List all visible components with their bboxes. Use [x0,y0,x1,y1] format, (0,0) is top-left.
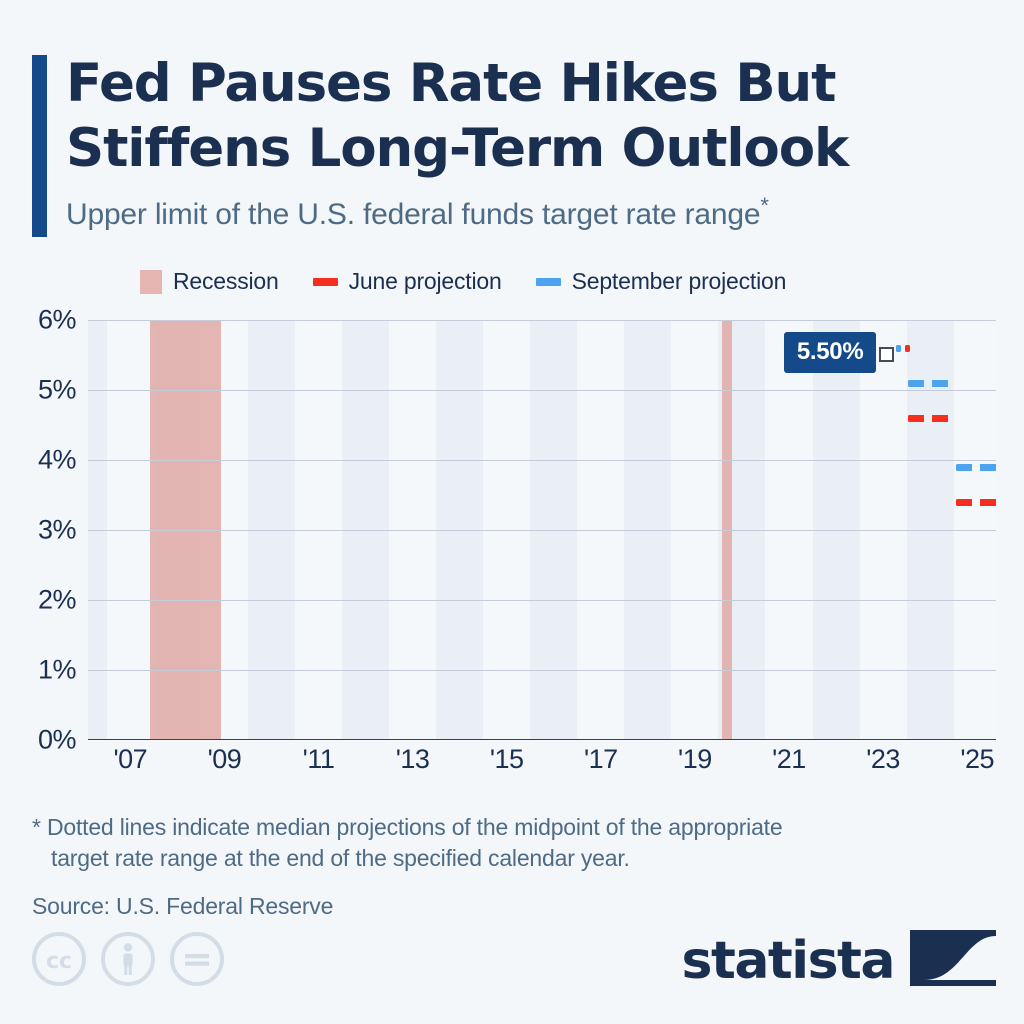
legend-label: September projection [572,268,787,295]
gridline [88,670,996,671]
legend-item-june-projection[interactable]: June projection [313,268,502,295]
cc-attribution-icon[interactable] [99,930,157,993]
projection-dash-september-2025 [956,464,996,471]
subtitle-text: Upper limit of the U.S. federal funds ta… [66,198,760,231]
x-axis-tick-label: '15 [490,744,524,775]
x-axis-tick-label: '07 [113,744,147,775]
gridline [88,600,996,601]
accent-bar [32,55,47,237]
statista-wordmark: statista [682,935,894,987]
projection-dash-june-2025 [956,499,996,506]
source-label: Source: U.S. Federal Reserve [32,891,992,922]
y-axis-labels: 0%1%2%3%4%5%6% [0,320,76,740]
header: Fed Pauses Rate Hikes But Stiffens Long-… [32,52,992,231]
x-axis-labels: '07'09'11'13'15'17'19'21'23'25 [88,744,996,784]
x-axis-line [88,739,996,740]
x-axis-tick-label: '17 [584,744,618,775]
x-axis-tick-label: '21 [772,744,806,775]
gridline [88,320,996,321]
subtitle-footnote-marker: * [760,193,768,218]
legend-swatch-icon [536,278,561,286]
value-callout: 5.50% [784,332,877,373]
creative-commons-icons: cc [30,930,226,993]
legend-swatch-icon [313,278,338,286]
y-axis-tick-label: 1% [38,655,76,686]
footnote-line-1: * Dotted lines indicate median projectio… [32,814,782,840]
chart-legend: RecessionJune projectionSeptember projec… [140,268,786,295]
chart-area: 0%1%2%3%4%5%6% 5.50% '07'09'11'13'15'17'… [0,300,1024,780]
footer: cc statista [0,920,1024,1020]
statista-mark-icon [910,930,996,991]
x-axis-tick-label: '11 [303,744,335,775]
page-title: Fed Pauses Rate Hikes But Stiffens Long-… [66,52,992,181]
x-axis-tick-label: '25 [960,744,994,775]
y-axis-tick-label: 2% [38,585,76,616]
svg-text:cc: cc [46,949,72,974]
footnote: * Dotted lines indicate median projectio… [32,812,992,922]
cc-noderivatives-icon[interactable] [168,930,226,993]
footnote-line-2: target rate range at the end of the spec… [32,843,992,874]
projection-dash-september-2024 [908,380,952,387]
gridline [88,460,996,461]
legend-item-recession[interactable]: Recession [140,268,279,295]
x-axis-tick-label: '19 [678,744,712,775]
gridline [88,390,996,391]
plot-area: 5.50% [88,320,996,740]
x-axis-tick-label: '23 [866,744,900,775]
legend-item-september-projection[interactable]: September projection [536,268,787,295]
y-axis-tick-label: 5% [38,375,76,406]
statista-logo[interactable]: statista [682,930,996,991]
page-subtitle: Upper limit of the U.S. federal funds ta… [66,194,992,231]
legend-label: June projection [349,268,502,295]
projection-dash-june-2023 [905,345,910,352]
y-axis-tick-label: 0% [38,725,76,756]
title-block: Fed Pauses Rate Hikes But Stiffens Long-… [66,52,992,231]
x-axis-tick-label: '13 [396,744,430,775]
y-axis-tick-label: 3% [38,515,76,546]
projection-dash-june-2024 [908,415,952,422]
gridline [88,530,996,531]
y-axis-tick-label: 4% [38,445,76,476]
legend-label: Recession [173,268,279,295]
projection-dash-september-2023 [896,345,901,352]
callout-marker [879,347,894,362]
x-axis-tick-label: '09 [208,744,242,775]
legend-swatch-icon [140,270,162,294]
cc-icon[interactable]: cc [30,930,88,993]
y-axis-tick-label: 6% [38,305,76,336]
